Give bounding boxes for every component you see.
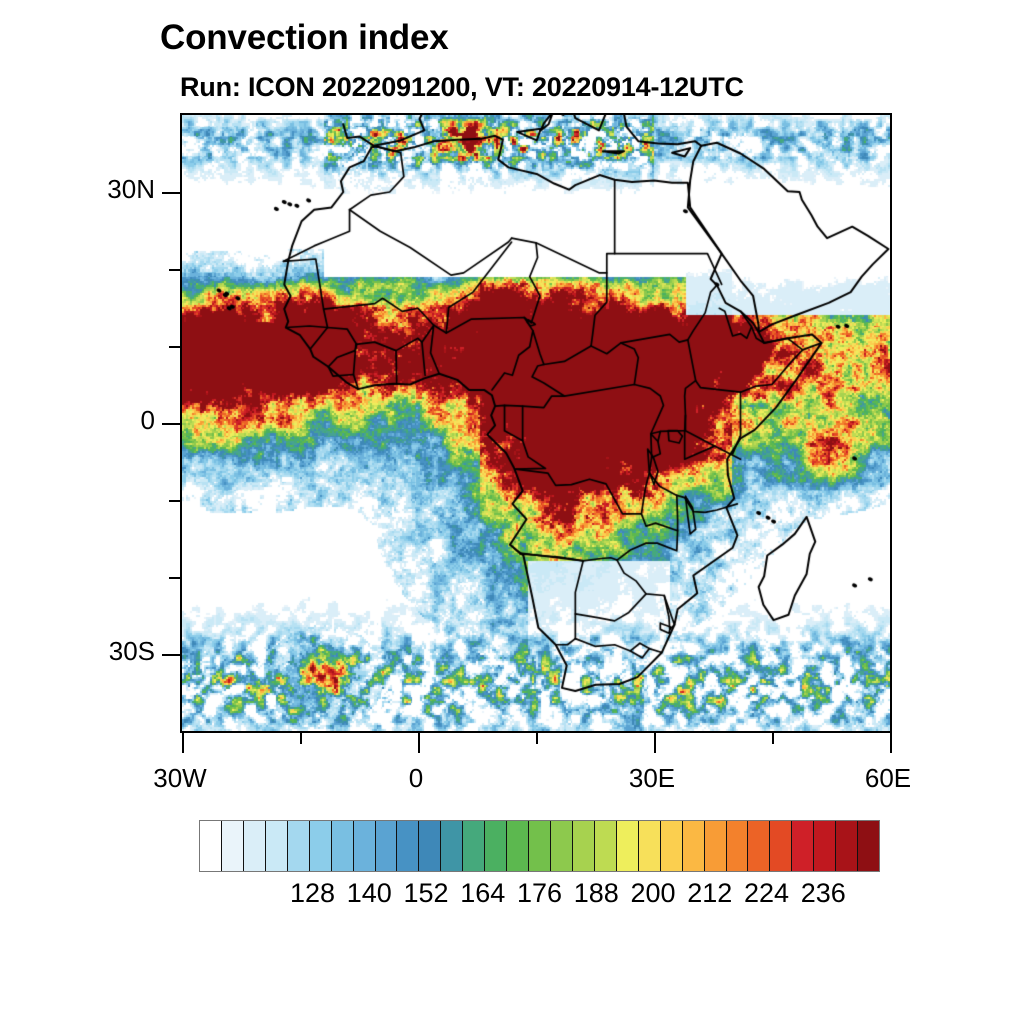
latitude-label: 30N xyxy=(0,174,155,205)
colorbar-cell xyxy=(814,821,836,871)
colorbar-tick-labels: 128140152164176188200212224236 xyxy=(199,878,880,914)
colorbar-cell xyxy=(441,821,463,871)
colorbar-tick-label: 128 xyxy=(290,878,335,909)
colorbar-tick-label: 212 xyxy=(687,878,732,909)
colorbar-cell xyxy=(792,821,814,871)
colorbar-cell xyxy=(288,821,310,871)
y-major-tick xyxy=(162,654,180,656)
colorbar-cell xyxy=(661,821,683,871)
colorbar-tick-label: 164 xyxy=(460,878,505,909)
colorbar-cell xyxy=(639,821,661,871)
colorbar-cell xyxy=(770,821,792,871)
convection-index-map xyxy=(182,115,890,731)
colorbar-cell xyxy=(551,821,573,871)
colorbar-cell xyxy=(617,821,639,871)
colorbar-cell xyxy=(485,821,507,871)
colorbar-cell xyxy=(573,821,595,871)
y-minor-tick xyxy=(169,269,180,271)
colorbar-cell xyxy=(748,821,770,871)
x-major-tick xyxy=(418,733,420,753)
colorbar-cell xyxy=(683,821,705,871)
y-minor-tick xyxy=(169,577,180,579)
colorbar-cell xyxy=(376,821,398,871)
y-minor-tick xyxy=(169,500,180,502)
colorbar-tick-label: 188 xyxy=(574,878,619,909)
colorbar-cell xyxy=(419,821,441,871)
page-title: Convection index xyxy=(160,18,449,58)
y-major-tick xyxy=(162,192,180,194)
colorbar xyxy=(199,820,880,872)
colorbar-cell xyxy=(595,821,617,871)
colorbar-cell xyxy=(705,821,727,871)
longitude-label: 60E xyxy=(818,763,958,794)
colorbar-cell xyxy=(266,821,288,871)
x-minor-tick xyxy=(300,733,302,744)
x-major-tick xyxy=(654,733,656,753)
colorbar-tick-label: 200 xyxy=(630,878,675,909)
colorbar-cell xyxy=(354,821,376,871)
longitude-label: 0 xyxy=(346,763,486,794)
colorbar-cell xyxy=(310,821,332,871)
x-minor-tick xyxy=(536,733,538,744)
colorbar-cell xyxy=(332,821,354,871)
longitude-label: 30E xyxy=(582,763,722,794)
colorbar-cell xyxy=(858,821,879,871)
colorbar-tick-label: 176 xyxy=(517,878,562,909)
colorbar-tick-label: 224 xyxy=(744,878,789,909)
colorbar-cell xyxy=(222,821,244,871)
longitude-label: 30W xyxy=(110,763,250,794)
colorbar-tick-label: 152 xyxy=(403,878,448,909)
x-major-tick xyxy=(890,733,892,753)
y-minor-tick xyxy=(169,346,180,348)
y-major-tick xyxy=(162,423,180,425)
run-info-subtitle: Run: ICON 2022091200, VT: 20220914-12UTC xyxy=(180,72,744,103)
colorbar-cell xyxy=(397,821,419,871)
colorbar-cell xyxy=(200,821,222,871)
x-minor-tick xyxy=(772,733,774,744)
colorbar-cell xyxy=(529,821,551,871)
colorbar-tick-label: 236 xyxy=(801,878,846,909)
colorbar-cell xyxy=(463,821,485,871)
latitude-label: 0 xyxy=(0,405,155,436)
x-major-tick xyxy=(182,733,184,753)
colorbar-cell xyxy=(727,821,749,871)
colorbar-cell xyxy=(507,821,529,871)
colorbar-cell xyxy=(836,821,858,871)
colorbar-cell xyxy=(244,821,266,871)
colorbar-tick-label: 140 xyxy=(347,878,392,909)
latitude-label: 30S xyxy=(0,636,155,667)
map-plot-frame xyxy=(180,113,892,733)
